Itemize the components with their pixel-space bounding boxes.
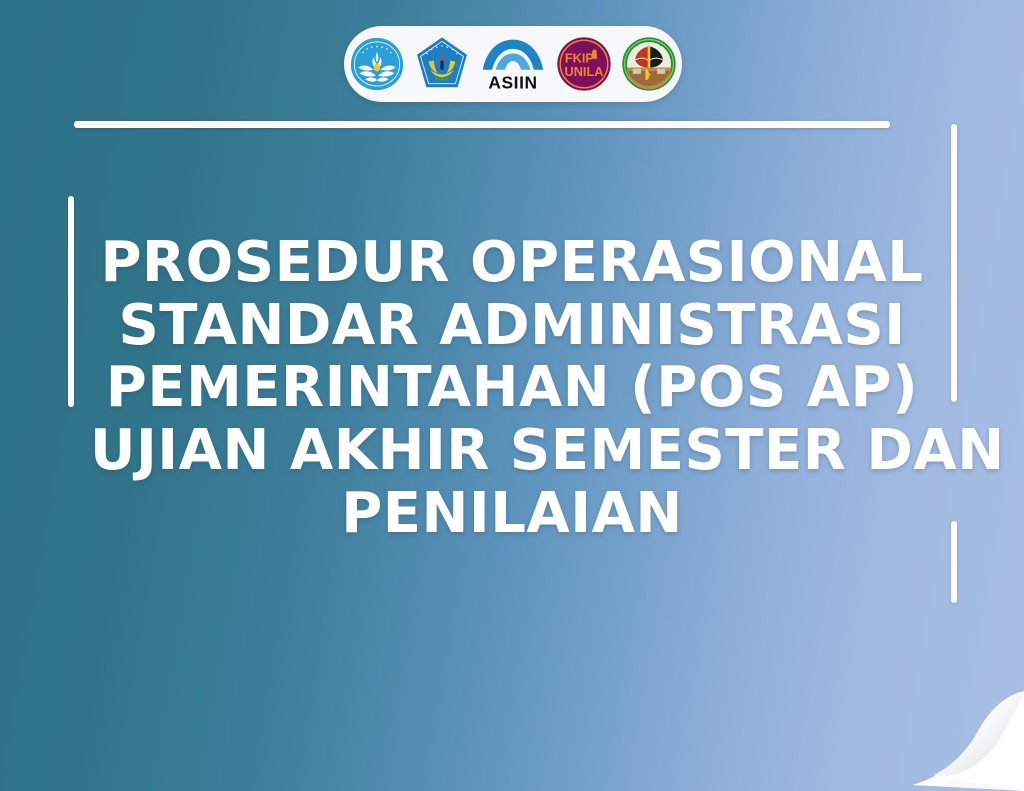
decorative-rule-right-lower [951,521,957,603]
tut-wuri-handayani-logo [348,35,406,93]
title-line-2: STANDAR ADMINISTRASI [90,295,934,358]
svg-text:FKIP: FKIP [565,50,595,65]
svg-text:UNILA: UNILA [565,64,604,79]
svg-text:ASIIN: ASIIN [488,72,537,92]
universitas-lampung-logo [413,35,471,93]
logo-bar: ASIIN FKIP UNILA [344,26,682,102]
decorative-rule-left [68,196,74,407]
fkip-unila-logo: FKIP UNILA [555,35,613,93]
title-line-4: UJIAN AKHIR SEMESTER DAN [90,420,934,483]
program-studi-logo [620,35,678,93]
decorative-rule-top [74,121,890,128]
slide-canvas: ASIIN FKIP UNILA [0,0,1024,791]
title-line-1: PROSEDUR OPERASIONAL [90,232,934,295]
asiin-logo: ASIIN [478,35,548,93]
title-line-5: PENILAIAN [90,483,934,546]
title-line-3: PEMERINTAHAN (POS AP) [90,357,934,420]
decorative-rule-right-upper [951,124,957,402]
page-curl-icon [910,673,1024,791]
page-title: PROSEDUR OPERASIONAL STANDAR ADMINISTRAS… [90,232,934,546]
